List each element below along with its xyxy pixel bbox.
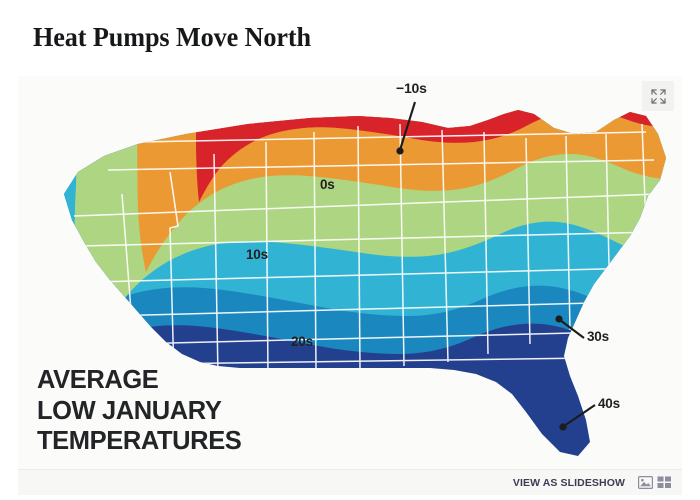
map-label-20s: 20s: [291, 334, 313, 349]
leader-dot-30s: [555, 315, 562, 322]
map-label-0s: 0s: [320, 177, 335, 192]
expand-fullscreen-button[interactable]: [642, 81, 674, 111]
map-label-neg10s: −10s: [396, 80, 427, 96]
map-caption: AVERAGE LOW JANUARY TEMPERATURES: [37, 365, 241, 457]
figure-footer: VIEW AS SLIDESHOW: [18, 469, 682, 495]
view-as-slideshow-link[interactable]: VIEW AS SLIDESHOW: [513, 477, 625, 489]
grid-thumbnails-icon: [657, 476, 672, 489]
leader-dot-40s: [559, 423, 566, 430]
map-label-40s: 40s: [598, 396, 620, 411]
page-root: Heat Pumps Move North: [0, 0, 700, 500]
map-label-30s: 30s: [587, 329, 609, 344]
image-photo-icon: [638, 476, 653, 489]
figure-card: −10s 0s 10s 20s 30s 40s AVERAGE LOW JANU…: [18, 76, 682, 469]
leader-dot-neg10s: [396, 147, 403, 154]
title-bar: Heat Pumps Move North: [0, 0, 700, 74]
grid-view-button[interactable]: [656, 476, 672, 490]
map-visualization[interactable]: −10s 0s 10s 20s 30s 40s AVERAGE LOW JANU…: [18, 76, 682, 469]
expand-fullscreen-icon: [651, 89, 666, 104]
image-view-button[interactable]: [637, 476, 653, 490]
map-label-10s: 10s: [246, 247, 268, 262]
page-title: Heat Pumps Move North: [33, 24, 311, 51]
